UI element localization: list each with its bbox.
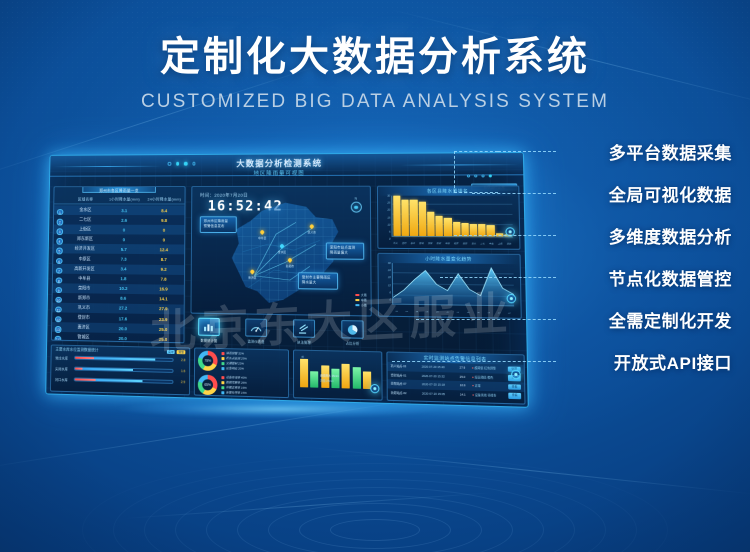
progress-row[interactable]: 河口水库2.9 xyxy=(51,373,189,387)
gauge-icon xyxy=(250,322,262,333)
row-region: 高新开发区 xyxy=(65,266,104,272)
row-hour-value: 27.2 xyxy=(103,306,143,312)
x-tick: 巩义 xyxy=(392,241,400,245)
bar[interactable] xyxy=(410,200,418,236)
x-tick: 16 xyxy=(474,312,483,314)
table-header-hour: 1小时降水量(mm) xyxy=(105,197,144,203)
row-region: 中牟县 xyxy=(65,275,104,281)
progress-value: 2.9 xyxy=(173,380,185,384)
y-tick: 30 xyxy=(383,196,390,199)
bar-chart-panel[interactable]: 各区县降水量排名 302520151050 巩义登封惠济管城荥阳新郑中原经开高新… xyxy=(377,185,521,249)
callout-line2: 降水量大 xyxy=(302,281,334,287)
list-time: 2020-07-20 15:18 xyxy=(422,383,453,388)
tab-enforcement[interactable]: 执法管理 xyxy=(291,319,317,346)
table-body[interactable]: 1金水区3.18.42二七区2.69.83上街区004郑东新区005经济开发区5… xyxy=(52,205,185,342)
vbar-annotation-1: 峰值降水 36mm xyxy=(320,373,339,378)
feature-label: 全需定制化开发 xyxy=(609,307,732,332)
progress-bar-list: 常庄水库2.8尖岗水库1.6河口水库2.9 xyxy=(51,352,189,388)
table-row[interactable]: 1金水区3.18.4 xyxy=(54,205,184,215)
list-action-button[interactable]: 查看 xyxy=(508,384,521,390)
list-station: 荥阳站点-07 xyxy=(391,382,420,387)
progress-fill-red xyxy=(75,379,96,381)
tab-monitor-gauge[interactable]: 监测仪表盘 xyxy=(243,318,269,345)
tab-data-statistics[interactable]: 数据统计图 xyxy=(196,318,222,344)
compass-ring-icon xyxy=(350,202,361,213)
progress-track[interactable] xyxy=(74,378,174,384)
donut-chart[interactable]: 65% xyxy=(198,375,218,396)
x-tick: 02 xyxy=(402,311,411,313)
alert-list-body[interactable]: 巩义站点-032020-07-20 15:4027.9● 超阈值 红色预警处理登… xyxy=(387,362,524,401)
donut-list: 78%降雨预警 32%积水点监测 25%交通管制 23%应急响应 20%65%设… xyxy=(195,348,288,398)
donut-legend: 设备在线率 40%数据完整率 26%传输正常率 19%告警处理率 15% xyxy=(221,375,246,396)
row-day-value: 23.9 xyxy=(143,316,184,322)
list-value: 27.9 xyxy=(455,366,470,370)
legend-label: 大雨 xyxy=(361,293,367,297)
reservoir-progress-panel[interactable]: 主要水库水位监测数据统计 实时 预警 常庄水库2.8尖岗水库1.6河口水库2.9 xyxy=(50,344,190,395)
bar-chart-y-axis: 302520151050 xyxy=(383,196,390,239)
time-label: 时间： xyxy=(200,193,214,198)
feature-label: 全局可视化数据 xyxy=(609,181,732,206)
bar-chart-icon xyxy=(203,322,215,332)
row-region: 中原区 xyxy=(65,256,104,262)
tab-icon-box xyxy=(245,318,267,336)
list-value: 16.9 xyxy=(455,383,470,388)
donut-item[interactable]: 65%设备在线率 40%数据完整率 26%传输正常率 19%告警处理率 15% xyxy=(195,372,288,398)
x-tick: 管城 xyxy=(417,241,425,245)
table-row[interactable]: 2二七区2.69.8 xyxy=(54,215,185,225)
map-marker[interactable]: 惠济区 xyxy=(250,270,254,276)
list-status: ● 设备离线 待排查 xyxy=(472,393,506,398)
x-tick: 14 xyxy=(463,312,472,314)
area-chart-x-labels: 000204060810121416182022 xyxy=(392,311,514,315)
row-hour-value: 20.0 xyxy=(103,336,143,342)
row-hour-value: 0 xyxy=(104,237,143,242)
area-chart-panel[interactable]: 小时降水量变化趋势 3024181260 0002040608101214161… xyxy=(377,253,521,319)
bar[interactable] xyxy=(352,367,360,389)
gavel-icon xyxy=(298,323,310,334)
bar[interactable] xyxy=(310,372,318,388)
map-pin-icon xyxy=(279,243,285,249)
legend-swatch xyxy=(355,294,359,297)
map-compass: N xyxy=(348,197,364,213)
x-tick: 新郑 xyxy=(435,241,443,245)
list-value: 25.0 xyxy=(455,375,470,380)
row-day-value: 7.8 xyxy=(143,277,184,282)
y-tick: 5 xyxy=(383,232,390,235)
feature-label: 多平台数据采集 xyxy=(609,139,732,164)
progress-badge[interactable]: 预警 xyxy=(177,350,185,354)
x-tick: 金水 xyxy=(470,241,478,245)
legend-item: 大雨 xyxy=(355,293,366,297)
map-callout[interactable]: 荥阳市站点监测 降雨量偏大 xyxy=(326,242,364,259)
bar[interactable] xyxy=(393,196,401,236)
x-tick: 中牟 xyxy=(487,241,495,245)
map-marker-label: 金水区 xyxy=(274,250,290,254)
map-marker-label: 巩义市 xyxy=(304,230,320,234)
y-tick: 10 xyxy=(383,224,390,227)
map-pin-icon xyxy=(259,229,265,235)
list-station: 巩义站点-03 xyxy=(391,364,420,369)
alert-list-panel[interactable]: 实时监测站点告警信息列表 巩义站点-032020-07-20 15:4027.9… xyxy=(386,351,525,404)
row-day-value: 0 xyxy=(144,227,185,232)
y-tick: 0 xyxy=(384,299,391,302)
table-header-region: 区域名称 xyxy=(66,197,105,203)
region-map[interactable]: 惠济区 金水区 巩义市 新郑市 中牟县 xyxy=(225,201,343,305)
row-region: 荥阳市 xyxy=(65,285,104,291)
bar[interactable] xyxy=(342,364,350,389)
progress-value: 2.8 xyxy=(174,358,186,362)
leader-line xyxy=(392,361,556,362)
feature-item-4[interactable]: 全需定制化开发 xyxy=(512,298,732,340)
bar[interactable] xyxy=(436,216,444,236)
table-header-day: 24小时降水量(mm) xyxy=(144,197,185,203)
tab-icon-box xyxy=(198,318,220,336)
row-day-value: 8.4 xyxy=(144,208,185,213)
row-day-value: 0 xyxy=(144,237,185,242)
feature-item-2[interactable]: 多维度数据分析 xyxy=(512,214,732,256)
dashboard-tab-bar[interactable]: 数据统计图 监测仪表盘 xyxy=(190,318,372,348)
map-marker[interactable]: 中牟县 xyxy=(260,230,264,236)
progress-track[interactable] xyxy=(74,367,174,373)
feature-item-0[interactable]: 多平台数据采集 xyxy=(512,130,732,172)
feature-item-1[interactable]: 全局可视化数据 xyxy=(512,172,732,214)
row-day-value: 27.9 xyxy=(143,306,184,312)
table-header-row: 区域名称 1小时降水量(mm) 24小时降水量(mm) xyxy=(54,196,184,205)
x-tick: 上街 xyxy=(496,241,504,245)
row-hour-value: 7.3 xyxy=(104,257,143,262)
dashboard-header: 大数据分析检测系统 地区降雨量可视图 xyxy=(50,153,524,184)
list-time: 2020-07-20 15:40 xyxy=(422,365,453,370)
row-hour-value: 20.0 xyxy=(103,326,143,332)
feature-label: 节点化数据管控 xyxy=(609,265,732,290)
map-legend: 大雨 中雨 小雨 xyxy=(355,292,366,307)
x-tick: 高新 xyxy=(461,241,469,245)
y-tick: 15 xyxy=(383,217,390,220)
list-time: 2020-07-20 15:32 xyxy=(422,374,453,379)
row-region: 郑东新区 xyxy=(65,236,104,242)
tab-label: 占比分析 xyxy=(339,340,365,346)
feature-item-5[interactable]: 开放式API接口 xyxy=(512,340,732,382)
progress-value: 1.6 xyxy=(174,369,186,373)
map-marker-label: 中牟县 xyxy=(254,236,270,240)
feature-label: 开放式API接口 xyxy=(614,349,732,374)
list-time: 2020-07-20 15:05 xyxy=(422,392,453,397)
donut-legend-item: 告警处理率 15% xyxy=(221,390,246,396)
x-tick: 12 xyxy=(453,312,462,314)
tab-share-analysis[interactable]: 占比分析 xyxy=(339,320,366,347)
leader-line xyxy=(498,151,556,152)
bar[interactable] xyxy=(444,218,452,236)
y-tick: 24 xyxy=(384,270,391,273)
x-tick: 04 xyxy=(412,311,421,313)
list-station: 登封站点-01 xyxy=(391,373,420,378)
y-tick: 30 xyxy=(384,263,391,266)
progress-fill-red xyxy=(75,368,83,370)
compass-north-label: N xyxy=(348,197,364,201)
progress-label: 尖岗水库 xyxy=(55,366,74,371)
x-tick: 荥阳 xyxy=(426,241,434,245)
map-pin-icon xyxy=(309,224,315,230)
callout-line2: 预警信息发布 xyxy=(204,224,233,229)
bar-chart-x-labels: 巩义登封惠济管城荥阳新郑中原经开高新金水二七中牟上街郑东 xyxy=(392,241,513,246)
row-day-value: 9.8 xyxy=(144,218,185,223)
progress-badge[interactable]: 实时 xyxy=(167,350,175,354)
row-day-value: 25.0 xyxy=(143,326,184,332)
legend-label: 中雨 xyxy=(361,298,367,302)
map-callout[interactable]: 郑州市区降雨量 预警信息发布 xyxy=(200,216,237,232)
legend-item: 中雨 xyxy=(355,298,366,302)
progress-panel-title: 主要水库水位监测数据统计 xyxy=(55,347,98,353)
donut-chart[interactable]: 78% xyxy=(198,351,218,371)
progress-label: 河口水库 xyxy=(55,376,74,381)
y-tick: 12 xyxy=(384,285,391,288)
leader-line xyxy=(416,319,556,320)
donut-center-value: 78% xyxy=(198,359,218,363)
tab-icon-box xyxy=(341,320,363,339)
vertical-bar-panel[interactable]: 403020100 峰值降水 36mm 均值 26mm xyxy=(293,350,383,401)
rainfall-table-panel: 郑州市各区降雨量一览 区域名称 1小时降水量(mm) 24小时降水量(mm) 1… xyxy=(51,186,186,343)
donut-legend: 降雨预警 32%积水点监测 25%交通管制 23%应急响应 20% xyxy=(221,351,246,372)
x-tick: 18 xyxy=(484,312,493,314)
list-status: ● 接近阈值 橙色 xyxy=(472,375,506,380)
row-hour-value: 8.6 xyxy=(104,296,143,301)
map-marker-label: 惠济区 xyxy=(244,275,260,279)
hero-title-block: 定制化大数据分析系统 CUSTOMIZED BIG DATA ANALYSIS … xyxy=(0,24,750,113)
bar[interactable] xyxy=(402,200,410,236)
progress-label: 常庄水库 xyxy=(55,355,74,360)
row-region: 经济开发区 xyxy=(65,246,104,252)
feature-item-3[interactable]: 节点化数据管控 xyxy=(512,256,732,298)
progress-fill-blue xyxy=(75,368,133,371)
feature-label: 多维度数据分析 xyxy=(609,223,732,248)
row-day-value: 12.4 xyxy=(143,247,184,252)
area-chart-y-axis: 3024181260 xyxy=(384,263,392,307)
donut-item[interactable]: 78%降雨预警 32%积水点监测 25%交通管制 23%应急响应 20% xyxy=(195,348,288,374)
page-title: 定制化大数据分析系统 xyxy=(0,24,750,82)
row-hour-value: 5.7 xyxy=(104,247,143,252)
callout-line2: 降雨量偏大 xyxy=(330,251,360,257)
x-tick: 二七 xyxy=(479,241,487,245)
y-tick: 20 xyxy=(383,210,390,213)
feature-list: 多平台数据采集全局可视化数据多维度数据分析节点化数据管控全需定制化开发开放式AP… xyxy=(512,130,732,382)
row-hour-value: 3.1 xyxy=(105,208,144,213)
row-hour-value: 10.2 xyxy=(104,286,143,291)
leader-line xyxy=(440,277,556,278)
area-chart-series xyxy=(393,263,514,305)
list-status: ● 超阈值 红色预警 xyxy=(472,366,506,371)
row-day-value: 8.7 xyxy=(143,257,184,262)
bar[interactable] xyxy=(418,201,426,236)
chart-hotspot-marker[interactable] xyxy=(370,384,379,393)
x-tick: 10 xyxy=(443,312,452,314)
row-region: 管城区 xyxy=(64,334,103,341)
x-tick: 08 xyxy=(433,311,442,313)
map-marker-label: 新郑市 xyxy=(282,264,298,268)
row-hour-value: 0 xyxy=(104,227,143,232)
row-hour-value: 3.4 xyxy=(104,266,143,271)
bar-chart-bars xyxy=(393,196,512,237)
time-date: 2020年7月20日 xyxy=(214,193,248,198)
row-region: 二七区 xyxy=(66,217,105,223)
page-subtitle: CUSTOMIZED BIG DATA ANALYSIS SYSTEM xyxy=(0,91,750,113)
legend-swatch xyxy=(355,299,359,302)
x-tick: 00 xyxy=(392,311,401,313)
row-region: 巩义市 xyxy=(64,305,103,311)
row-region: 惠济区 xyxy=(64,324,103,331)
progress-track[interactable] xyxy=(74,356,174,362)
vbar-annotation-2: 均值 26mm xyxy=(320,379,333,383)
bar[interactable] xyxy=(300,359,308,388)
pie-chart-icon xyxy=(346,324,358,335)
row-region: 上街区 xyxy=(66,227,105,233)
map-panel[interactable]: 时间：2020年7月20日 16:52:42 xyxy=(190,186,371,317)
y-tick: 0 xyxy=(383,239,390,242)
tab-label: 监测仪表盘 xyxy=(243,338,269,344)
dashboard-bottom-strip: 主要水库水位监测数据统计 实时 预警 常庄水库2.8尖岗水库1.6河口水库2.9… xyxy=(50,344,523,404)
x-tick: 惠济 xyxy=(409,241,417,245)
x-tick: 20 xyxy=(494,312,503,314)
legend-item: 小雨 xyxy=(355,303,366,307)
progress-fill-red xyxy=(75,357,94,359)
bar-chart-plot xyxy=(391,196,513,238)
leader-line xyxy=(472,193,556,194)
row-day-value: 16.9 xyxy=(143,287,184,292)
row-region: 新郑市 xyxy=(65,295,104,301)
map-marker[interactable]: 金水区 xyxy=(280,244,284,250)
x-tick: 经开 xyxy=(452,241,460,245)
map-callout[interactable]: 登封市主要降雨区 降水量大 xyxy=(298,272,338,289)
row-hour-value: 1.8 xyxy=(104,276,143,281)
donut-center-value: 65% xyxy=(198,383,218,388)
donut-legend-item: 应急响应 20% xyxy=(221,366,246,372)
row-region: 登封市 xyxy=(64,315,103,322)
map-pin-icon xyxy=(250,269,256,275)
leader-elbow xyxy=(454,151,498,193)
row-region: 金水区 xyxy=(66,207,105,213)
y-tick: 6 xyxy=(384,292,391,295)
legend-swatch xyxy=(355,304,359,307)
x-tick: 中原 xyxy=(444,241,452,245)
map-marker[interactable]: 巩义市 xyxy=(310,224,314,230)
list-status: ● 正常 xyxy=(472,384,506,389)
list-value: 14.1 xyxy=(455,392,470,397)
map-marker[interactable]: 新郑市 xyxy=(288,258,292,264)
tab-label: 数据统计图 xyxy=(196,338,221,343)
bar[interactable] xyxy=(427,212,435,236)
y-tick: 25 xyxy=(383,203,390,206)
dashboard-subtitle: 地区降雨量可视图 xyxy=(50,168,523,177)
map-pin-icon xyxy=(287,257,293,263)
donut-charts-panel[interactable]: 78%降雨预警 32%积水点监测 25%交通管制 23%应急响应 20%65%设… xyxy=(194,347,289,398)
legend-label: 小雨 xyxy=(361,303,367,307)
row-day-value: 25.0 xyxy=(143,336,184,342)
leader-line xyxy=(454,235,556,236)
tab-icon-box xyxy=(293,319,315,338)
list-action-button[interactable]: 查看 xyxy=(508,393,521,399)
area-chart-plot xyxy=(392,263,514,306)
row-day-value: 14.1 xyxy=(143,296,184,302)
x-tick: 06 xyxy=(423,311,432,313)
x-tick: 登封 xyxy=(400,241,408,245)
y-tick: 18 xyxy=(384,278,391,281)
row-hour-value: 2.6 xyxy=(105,218,144,223)
list-station: 新郑站点-02 xyxy=(391,391,420,396)
tab-label: 执法管理 xyxy=(291,339,317,345)
table-title-tag: 郑州市各区降雨量一览 xyxy=(82,186,156,193)
row-day-value: 9.2 xyxy=(143,267,184,272)
row-hour-value: 17.6 xyxy=(103,316,143,322)
